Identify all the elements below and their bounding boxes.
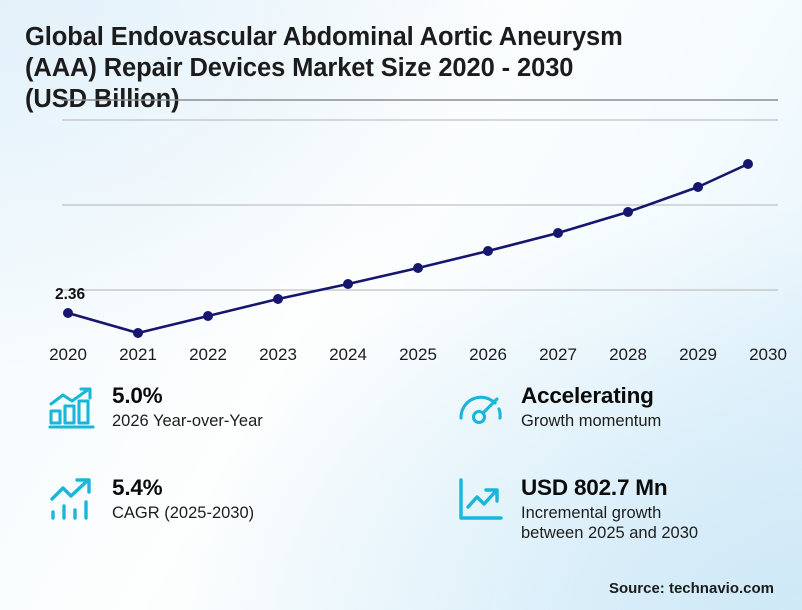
x-tick-2029: 2029	[666, 345, 730, 365]
stat-yoy-caption: 2026 Year-over-Year	[112, 411, 263, 431]
data-label-2020: 2.36	[55, 286, 85, 304]
speedometer-icon	[455, 382, 507, 434]
bar-chart-growth-icon	[46, 382, 98, 434]
x-tick-2022: 2022	[176, 345, 240, 365]
stat-yoy-text: 5.0% 2026 Year-over-Year	[112, 382, 263, 431]
x-axis: 2020 2021 2022 2023 2024 2025 2026 2027 …	[0, 345, 802, 371]
stat-incremental-value: USD 802.7 Mn	[521, 475, 698, 500]
x-tick-2028: 2028	[596, 345, 660, 365]
series-line	[68, 164, 748, 333]
stat-cagr-value: 5.4%	[112, 475, 254, 500]
stat-cagr: 5.4% CAGR (2025-2030)	[46, 474, 254, 526]
line-chart: 2.36	[0, 96, 802, 364]
chart-svg	[0, 96, 802, 364]
stat-yoy: 5.0% 2026 Year-over-Year	[46, 382, 263, 434]
gridlines	[62, 100, 778, 290]
stat-incremental-caption: Incremental growth between 2025 and 2030	[521, 503, 698, 543]
x-tick-2025: 2025	[386, 345, 450, 365]
x-tick-2023: 2023	[246, 345, 310, 365]
x-tick-2026: 2026	[456, 345, 520, 365]
stat-incremental-text: USD 802.7 Mn Incremental growth between …	[521, 474, 698, 543]
infographic-canvas: Global Endovascular Abdominal Aortic Ane…	[0, 0, 802, 610]
x-tick-2024: 2024	[316, 345, 380, 365]
stats-grid: 5.0% 2026 Year-over-Year 5.4% CAGR (2025…	[0, 382, 802, 572]
x-tick-2021: 2021	[106, 345, 170, 365]
x-tick-2027: 2027	[526, 345, 590, 365]
stat-momentum-value: Accelerating	[521, 383, 661, 408]
stat-momentum-caption: Growth momentum	[521, 411, 661, 431]
stat-cagr-text: 5.4% CAGR (2025-2030)	[112, 474, 254, 523]
x-tick-2030: 2030	[736, 345, 800, 365]
axis-trend-arrow-icon	[455, 474, 507, 526]
trending-up-bars-icon	[46, 474, 98, 526]
stat-momentum-text: Accelerating Growth momentum	[521, 382, 661, 431]
x-tick-2020: 2020	[36, 345, 100, 365]
stat-incremental: USD 802.7 Mn Incremental growth between …	[455, 474, 698, 543]
series-markers	[63, 159, 753, 338]
source-attribution: Source: technavio.com	[609, 580, 774, 597]
stat-momentum: Accelerating Growth momentum	[455, 382, 661, 434]
stat-yoy-value: 5.0%	[112, 383, 263, 408]
stat-cagr-caption: CAGR (2025-2030)	[112, 503, 254, 523]
